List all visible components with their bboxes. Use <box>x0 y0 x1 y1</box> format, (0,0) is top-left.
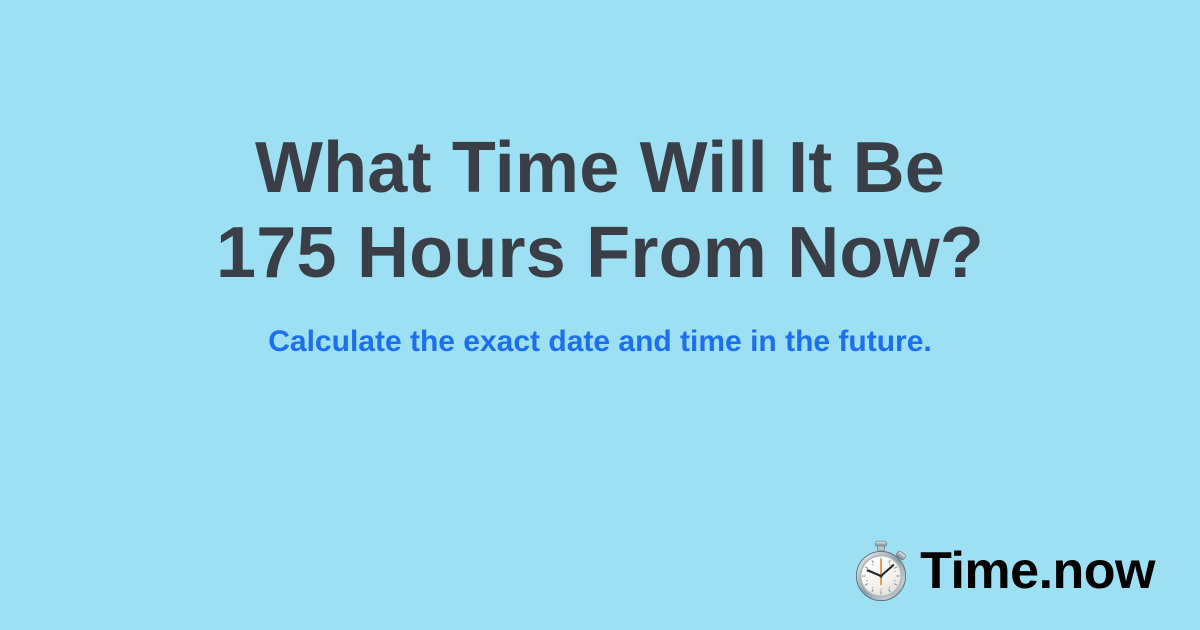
brand-name: Time.now <box>920 543 1155 599</box>
stopwatch-center-pin <box>880 574 883 577</box>
og-card: What Time Will It Be 175 Hours From Now?… <box>0 0 1200 630</box>
stopwatch-crown <box>876 541 887 551</box>
stopwatch-icon <box>852 540 910 602</box>
stopwatch-second-hand <box>880 560 882 586</box>
brand-logo: Time.now <box>852 540 1155 602</box>
headline-line-1: What Time Will It Be <box>0 126 1200 211</box>
headline-line-2: 175 Hours From Now? <box>0 211 1200 296</box>
page-subtitle: Calculate the exact date and time in the… <box>0 322 1200 362</box>
page-title: What Time Will It Be 175 Hours From Now? <box>0 126 1200 296</box>
